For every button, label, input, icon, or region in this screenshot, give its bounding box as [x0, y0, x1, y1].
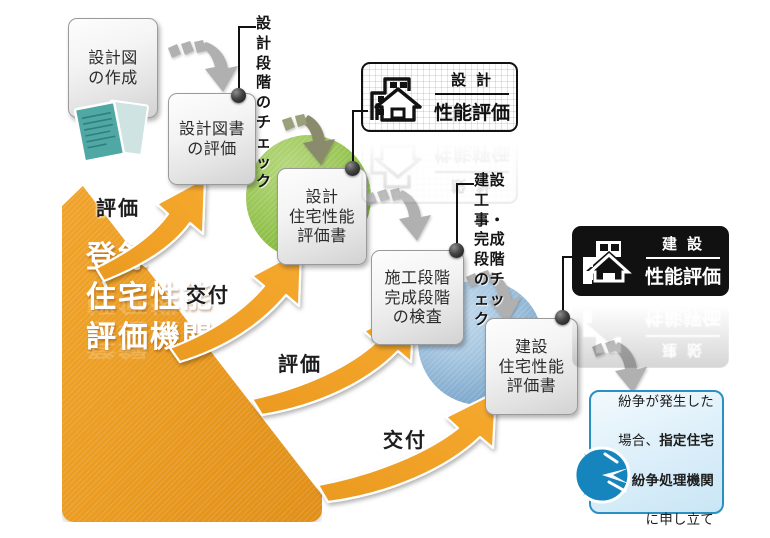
badge-construction-rule-reflection [646, 335, 720, 337]
gray-arrow-1 [168, 40, 238, 92]
callout-ball-design-check [231, 88, 246, 103]
badge-construction-bottom: 性能評価 [645, 262, 721, 289]
badge-ball-design [345, 161, 360, 176]
badge-construction-reflection: 建設 性能評価 [572, 298, 729, 368]
badge-design-bottom: 性能評価 [434, 98, 510, 125]
dispute-line-2-bold: 指定住宅 [659, 433, 714, 449]
badge-leader-construction [562, 256, 588, 318]
house-building-icon [580, 233, 638, 287]
badge-design-rule [435, 93, 509, 95]
dispute-line-4: に申し立て [646, 512, 715, 528]
flow-label-issue-1: 交付 [186, 279, 230, 308]
documents-icon [70, 96, 156, 172]
dispute-line-3-bold: 紛争処理機関 [632, 473, 714, 489]
box-design-drawing-label: 設計図 の作成 [88, 48, 138, 87]
badge-design-text: 設計 性能評価 [427, 69, 510, 125]
box-design-doc-eval-label: 設計図書 の評価 [179, 119, 245, 158]
box-construction-report[interactable]: 建設 住宅性能 評価書 [485, 318, 578, 415]
callout-design-stage-check-label: 設計段階の チェック [256, 14, 272, 192]
badge-design-top: 設計 [434, 69, 510, 90]
flow-label-issue-2: 交付 [383, 424, 427, 453]
badge-construction-performance: 建設 性能評価 建設 性能評価 [572, 226, 729, 368]
badge-construction-rule [646, 257, 720, 259]
flow-label-eval-2: 評価 [278, 348, 322, 377]
badge-design-body: 設計 性能評価 [361, 62, 518, 132]
callout-ball-construction-check [449, 243, 464, 258]
box-design-doc-eval[interactable]: 設計図書 の評価 [168, 93, 256, 185]
box-design-report-label: 設計 住宅性能 評価書 [289, 187, 355, 246]
box-construction-report-label: 建設 住宅性能 評価書 [498, 337, 564, 396]
flow-label-eval-1: 評価 [96, 192, 140, 221]
badge-construction-top: 建設 [645, 233, 721, 254]
diagram-canvas: 登録 住宅性能 評価機関 登録 住宅性能 評価機関 [0, 0, 770, 538]
badge-design-bottom-reflection: 性能評価 [434, 141, 510, 168]
badge-construction-text-reflection: 建設 性能評価 [638, 305, 721, 361]
dispute-line-1: 紛争が発生した [618, 394, 714, 410]
badge-construction-body: 建設 性能評価 [572, 226, 729, 296]
badge-construction-bottom-reflection: 性能評価 [645, 305, 721, 332]
box-construction-inspection[interactable]: 施工段階 完成段階 の検査 [371, 250, 464, 345]
callout-construction-stage-check-label: 建設工事・完成段階 のチェック [474, 171, 505, 329]
badge-ball-construction [555, 310, 570, 325]
house-building-icon-reflection [580, 307, 638, 361]
box-design-report[interactable]: 設計 住宅性能 評価書 [277, 168, 367, 265]
broken-circle-icon [571, 444, 633, 506]
badge-construction-text: 建設 性能評価 [638, 233, 721, 289]
badge-construction-top-reflection: 建設 [645, 340, 721, 361]
box-construction-inspection-label: 施工段階 完成段階 の検査 [384, 268, 450, 327]
